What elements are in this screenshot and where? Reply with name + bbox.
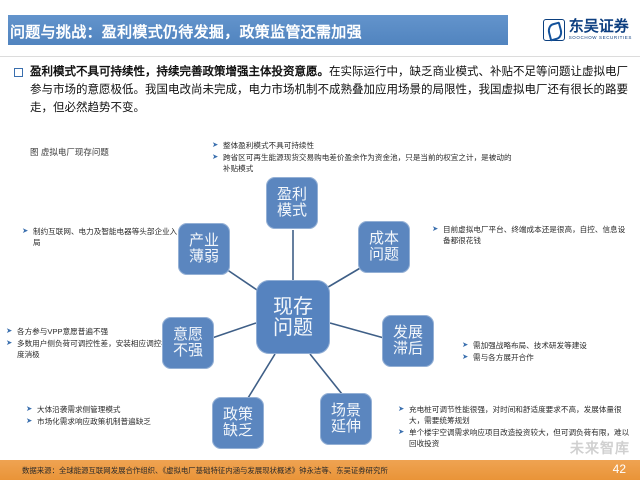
connector-policy	[248, 354, 275, 398]
list-item: ➤多数用户侧负荷可调控性差，安装相应调控模块态度消极	[6, 338, 186, 360]
lead-paragraph: 盈利模式不具可持续性，持续完善政策增强主体投资意愿。在实际运行中，缺乏商业模式、…	[14, 64, 628, 117]
node-label: 盈利 模式	[277, 187, 307, 219]
company-logo: 东吴证券 SOOCHOW SECURITIES	[543, 16, 632, 44]
list-item: ➤需与各方展开合作	[462, 352, 632, 363]
arrow-bullet-icon: ➤	[26, 404, 37, 415]
slide-footer: 数据来源：全球能源互联网发展合作组织、《虚拟电厂基础特征内涵与发展现状概述》钟永…	[0, 460, 640, 480]
node-label: 现存 问题	[273, 296, 313, 338]
lead-bold-text: 盈利模式不具可持续性，持续完善政策增强主体投资意愿。	[30, 66, 329, 78]
node-label: 产业 薄弱	[189, 233, 219, 265]
square-bullet-icon	[14, 68, 23, 77]
logo-name-cn: 东吴证券	[569, 19, 632, 34]
header-divider	[0, 56, 640, 57]
list-item: ➤整体盈利模式不具可持续性	[212, 140, 512, 151]
node-label: 意愿 不强	[173, 327, 203, 359]
lead-paragraph-text: 盈利模式不具可持续性，持续完善政策增强主体投资意愿。在实际运行中，缺乏商业模式、…	[30, 64, 628, 117]
mind-map-diagram: 现存 问题 盈利 模式 成本 问题 发展 滞后 场景 延伸 政策 缺乏 意愿 不…	[160, 175, 480, 445]
arrow-bullet-icon: ➤	[6, 326, 17, 337]
annotation-development: ➤需加强战略布局、技术研发等建设 ➤需与各方展开合作	[462, 340, 632, 364]
list-item: ➤跨省区可再生能源现货交易购电差价盈余作为资金池，只是当前的权宜之计，是被动的补…	[212, 152, 512, 174]
node-development-lag[interactable]: 发展 滞后	[382, 315, 434, 367]
arrow-bullet-icon: ➤	[26, 416, 37, 427]
list-item: ➤制约互联网、电力及智能电器等头部企业入局	[22, 226, 182, 248]
figure-caption: 图 虚拟电厂现存问题	[30, 146, 109, 158]
node-label: 发展 滞后	[393, 325, 423, 357]
connector-scene	[310, 354, 342, 394]
node-core[interactable]: 现存 问题	[256, 280, 330, 354]
annotation-text: 需加强战略布局、技术研发等建设	[473, 340, 632, 351]
node-scenario-extension[interactable]: 场景 延伸	[320, 393, 372, 445]
node-label: 成本 问题	[369, 231, 399, 263]
connector-dev	[330, 323, 384, 338]
footer-source-text: 数据来源：全球能源互联网发展合作组织、《虚拟电厂基础特征内涵与发展现状概述》钟永…	[22, 465, 388, 476]
annotation-text: 需与各方展开合作	[473, 352, 632, 363]
arrow-bullet-icon: ➤	[22, 226, 33, 237]
annotation-industry: ➤制约互联网、电力及智能电器等头部企业入局	[22, 226, 182, 249]
node-weak-industry[interactable]: 产业 薄弱	[178, 223, 230, 275]
arrow-bullet-icon: ➤	[6, 338, 17, 349]
node-cost-issue[interactable]: 成本 问题	[358, 221, 410, 273]
list-item: ➤需加强战略布局、技术研发等建设	[462, 340, 632, 351]
annotation-text: 整体盈利模式不具可持续性	[223, 140, 512, 151]
node-label: 场景 延伸	[331, 403, 361, 435]
connector-industry	[226, 269, 260, 292]
annotation-profit: ➤整体盈利模式不具可持续性 ➤跨省区可再生能源现货交易购电差价盈余作为资金池，只…	[212, 140, 512, 175]
node-label: 政策 缺乏	[223, 407, 253, 439]
node-profit-model[interactable]: 盈利 模式	[266, 177, 318, 229]
slide-header: 问题与挑战：盈利模式仍待发掘，政策监管还需加强 东吴证券 SOOCHOW SEC…	[0, 0, 640, 58]
annotation-willingness: ➤各方参与VPP意愿普遍不强 ➤多数用户侧负荷可调控性差，安装相应调控模块态度消…	[6, 326, 186, 361]
annotation-text: 跨省区可再生能源现货交易购电差价盈余作为资金池，只是当前的权宜之计，是被动的补贴…	[223, 152, 512, 174]
arrow-bullet-icon: ➤	[212, 152, 223, 163]
swirl-logo-icon	[543, 19, 565, 41]
logo-name-en: SOOCHOW SECURITIES	[569, 36, 632, 41]
page-number: 42	[613, 462, 626, 476]
node-low-willingness[interactable]: 意愿 不强	[162, 317, 214, 369]
list-item: ➤各方参与VPP意愿普遍不强	[6, 326, 186, 337]
connector-will	[212, 323, 256, 338]
node-policy-lack[interactable]: 政策 缺乏	[212, 397, 264, 449]
arrow-bullet-icon: ➤	[212, 140, 223, 151]
page-title: 问题与挑战：盈利模式仍待发掘，政策监管还需加强	[10, 21, 362, 42]
